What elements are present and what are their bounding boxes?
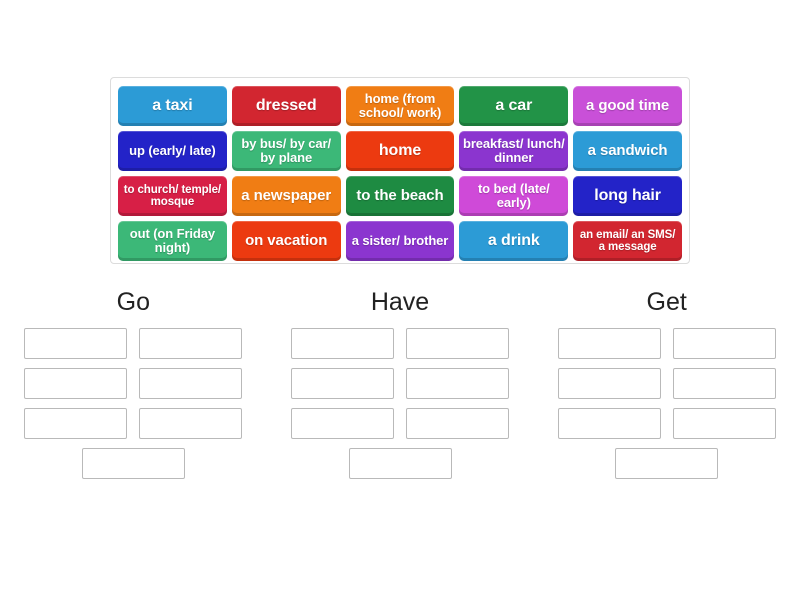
drop-slot[interactable] [82,448,185,479]
drop-slot[interactable] [349,448,452,479]
word-tile[interactable]: a sandwich [573,131,682,171]
word-tile[interactable]: to church/ temple/ mosque [118,176,227,216]
drop-slot[interactable] [139,368,242,399]
word-tile[interactable]: a newspaper [232,176,341,216]
drop-slot[interactable] [24,408,127,439]
drop-slot[interactable] [615,448,718,479]
drop-slot[interactable] [558,328,661,359]
drop-slot[interactable] [24,368,127,399]
word-tile[interactable]: up (early/ late) [118,131,227,171]
word-tile[interactable]: home (from school/ work) [346,86,455,126]
word-tile[interactable]: a good time [573,86,682,126]
drop-slot[interactable] [139,328,242,359]
drop-slot[interactable] [406,408,509,439]
word-tile[interactable]: on vacation [232,221,341,261]
drop-slot[interactable] [558,368,661,399]
drop-slot[interactable] [406,368,509,399]
category-heading: Get [533,288,800,328]
category-drop-column[interactable] [0,328,267,479]
word-tile[interactable]: breakfast/ lunch/ dinner [459,131,568,171]
word-bank-row: to church/ temple/ mosquea newspaperto t… [118,176,682,216]
category-heading: Go [0,288,267,328]
category-bodies-row [0,328,800,479]
drop-slot[interactable] [673,408,776,439]
category-columns: GoHaveGet [0,288,800,479]
category-headings-row: GoHaveGet [0,288,800,328]
drop-slot[interactable] [673,368,776,399]
word-tile[interactable]: by bus/ by car/ by plane [232,131,341,171]
category-drop-column[interactable] [267,328,534,479]
word-tile[interactable]: to the beach [346,176,455,216]
word-tile[interactable]: an email/ an SMS/ a message [573,221,682,261]
drop-slot[interactable] [406,328,509,359]
word-tile[interactable]: a car [459,86,568,126]
word-bank-panel: a taxidressedhome (from school/ work)a c… [110,77,690,264]
word-bank-row: a taxidressedhome (from school/ work)a c… [118,86,682,126]
drop-slot[interactable] [673,328,776,359]
word-tile[interactable]: long hair [573,176,682,216]
word-tile[interactable]: out (on Friday night) [118,221,227,261]
word-tile[interactable]: home [346,131,455,171]
word-tile[interactable]: a taxi [118,86,227,126]
drop-slot[interactable] [291,408,394,439]
category-heading: Have [267,288,534,328]
drop-slot[interactable] [558,408,661,439]
word-bank-row: out (on Friday night)on vacationa sister… [118,221,682,261]
word-tile[interactable]: a drink [459,221,568,261]
drop-slot[interactable] [291,368,394,399]
word-bank-row: up (early/ late)by bus/ by car/ by plane… [118,131,682,171]
word-tile[interactable]: a sister/ brother [346,221,455,261]
word-tile[interactable]: to bed (late/ early) [459,176,568,216]
drop-slot[interactable] [291,328,394,359]
drop-slot[interactable] [139,408,242,439]
word-tile[interactable]: dressed [232,86,341,126]
category-drop-column[interactable] [533,328,800,479]
drop-slot[interactable] [24,328,127,359]
